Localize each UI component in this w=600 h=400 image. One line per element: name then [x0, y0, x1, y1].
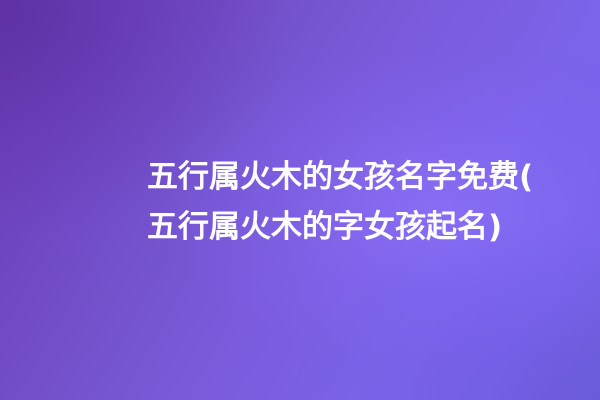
- title-line-1: 五行属火木的女孩名字免费(: [147, 152, 567, 202]
- title-line-2: 五行属火木的字女孩起名): [147, 202, 567, 252]
- title-block: 五行属火木的女孩名字免费( 五行属火木的字女孩起名): [147, 152, 567, 252]
- banner-image: 五行属火木的女孩名字免费( 五行属火木的字女孩起名): [0, 0, 600, 400]
